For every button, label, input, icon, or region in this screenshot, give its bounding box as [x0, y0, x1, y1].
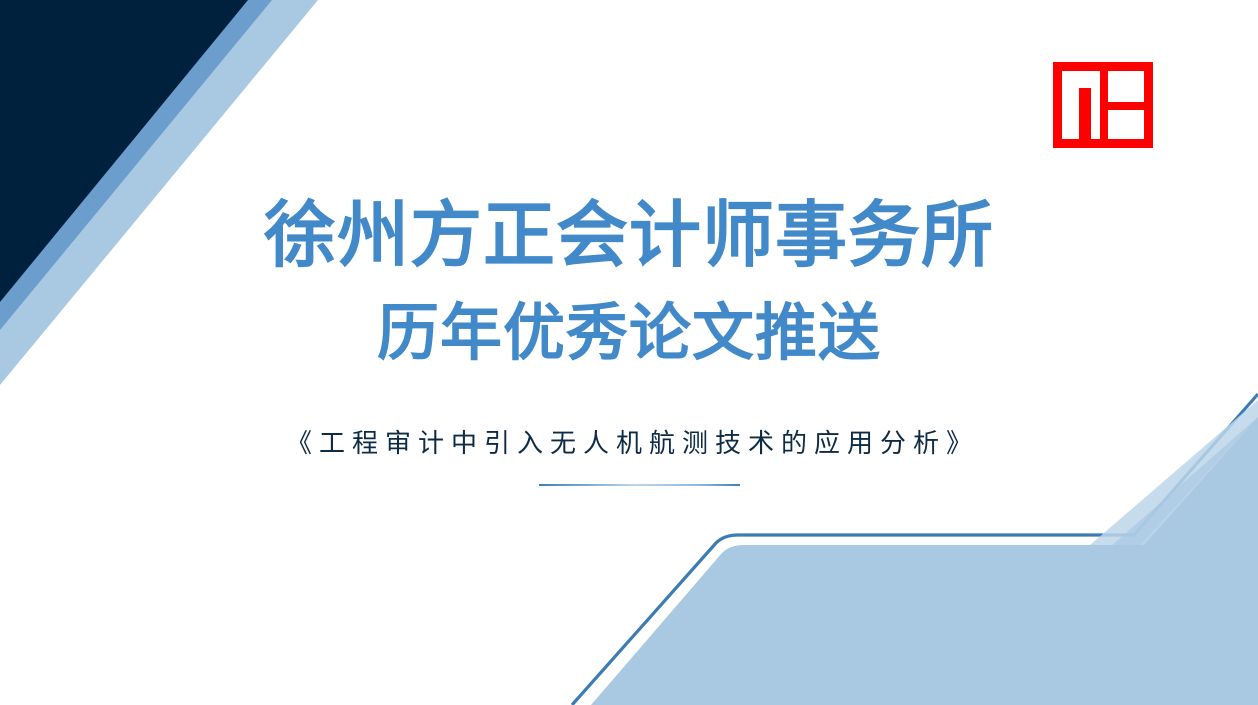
page-title-line-1: 徐州方正会计师事务所	[0, 192, 1258, 278]
page-subtitle: 《工程审计中引入无人机航测技术的应用分析》	[0, 426, 1258, 462]
title-divider-rule	[539, 484, 740, 486]
slide-text-content: 徐州方正会计师事务所 历年优秀论文推送 《工程审计中引入无人机航测技术的应用分析…	[0, 0, 1258, 705]
page-title-line-2: 历年优秀论文推送	[0, 296, 1258, 370]
presentation-slide: 徐州方正会计师事务所 历年优秀论文推送 《工程审计中引入无人机航测技术的应用分析…	[0, 0, 1258, 705]
